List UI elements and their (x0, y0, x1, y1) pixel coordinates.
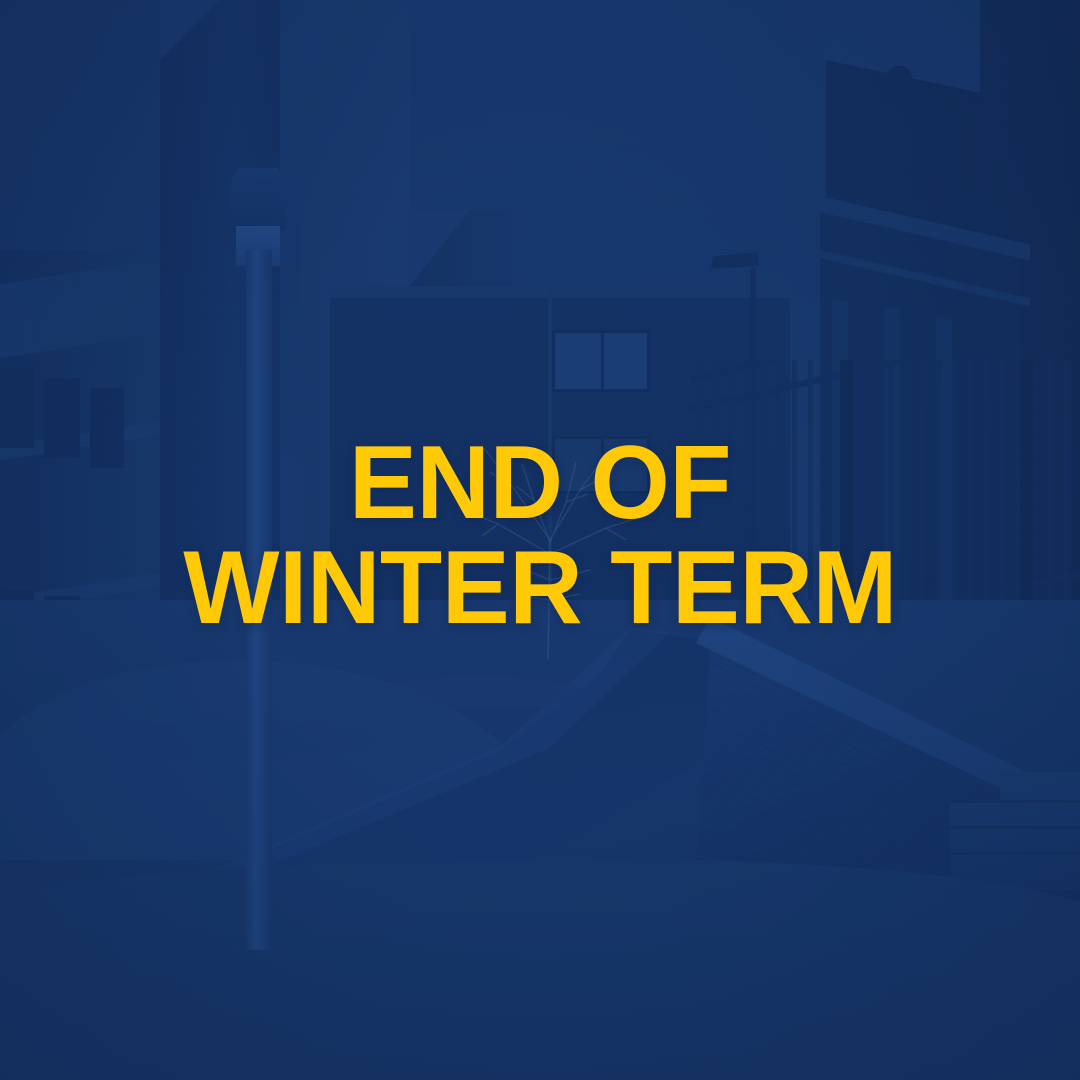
headline-line-1: END OF (349, 434, 731, 533)
headline-line-2: WINTER TERM (183, 539, 897, 638)
headline-block: END OF WINTER TERM (0, 0, 1080, 1080)
announcement-graphic: END OF WINTER TERM (0, 0, 1080, 1080)
